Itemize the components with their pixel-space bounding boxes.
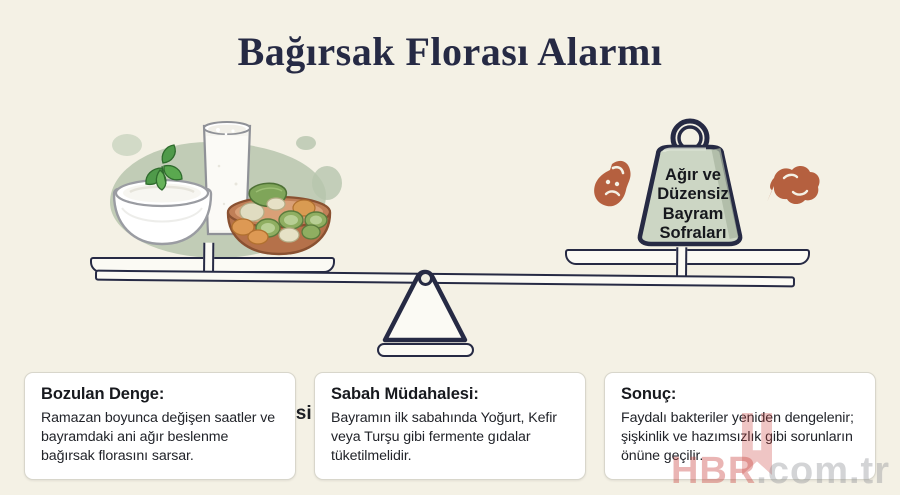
right-scale-pan xyxy=(565,249,810,265)
info-card-sabah-mudahalesi: Sabah Müdahalesi: Bayramın ilk sabahında… xyxy=(314,372,586,480)
food-vector-group xyxy=(100,108,336,260)
card-body: Bayramın ilk sabahında Yoğurt, Kefir vey… xyxy=(331,409,571,466)
page-title: Bağırsak Florası Alarmı xyxy=(0,28,900,75)
weight-label: Ağır ve Düzensiz Bayram Sofraları xyxy=(643,166,743,243)
sad-stomach-icon xyxy=(594,161,630,206)
balance-scale-illustration: Ağır ve Düzensiz Bayram Sofraları Probiy… xyxy=(0,100,900,365)
info-card-bozulan-denge: Bozulan Denge: Ramazan boyunca değişen s… xyxy=(24,372,296,480)
card-title: Sonuç: xyxy=(621,385,861,404)
left-pan-post xyxy=(203,243,214,273)
weight-label-line-2: Düzensiz xyxy=(643,185,743,204)
right-pan-post xyxy=(676,247,687,277)
heavy-meals-weight-group: Ağır ve Düzensiz Bayram Sofraları xyxy=(586,116,832,262)
card-title: Bozulan Denge: xyxy=(41,385,281,404)
card-body: Ramazan boyunca değişen saatler ve bayra… xyxy=(41,409,281,466)
fulcrum-pivot-icon xyxy=(418,271,433,286)
card-body: Faydalı bakteriler yeniden dengelenir; ş… xyxy=(621,409,861,466)
scale-base-bar xyxy=(377,343,474,357)
probiotic-foods-illustration xyxy=(100,108,336,260)
card-title: Sabah Müdahalesi: xyxy=(331,385,571,404)
infographic-canvas: Bağırsak Florası Alarmı xyxy=(0,0,900,495)
weight-label-line-1: Ağır ve xyxy=(643,166,743,185)
weight-label-line-3: Bayram xyxy=(643,205,743,224)
info-card-row: Bozulan Denge: Ramazan boyunca değişen s… xyxy=(24,372,876,480)
info-card-sonuc: Sonuç: Faydalı bakteriler yeniden dengel… xyxy=(604,372,876,480)
bloat-cloud-icon xyxy=(767,166,820,204)
weight-label-line-4: Sofraları xyxy=(643,224,743,243)
